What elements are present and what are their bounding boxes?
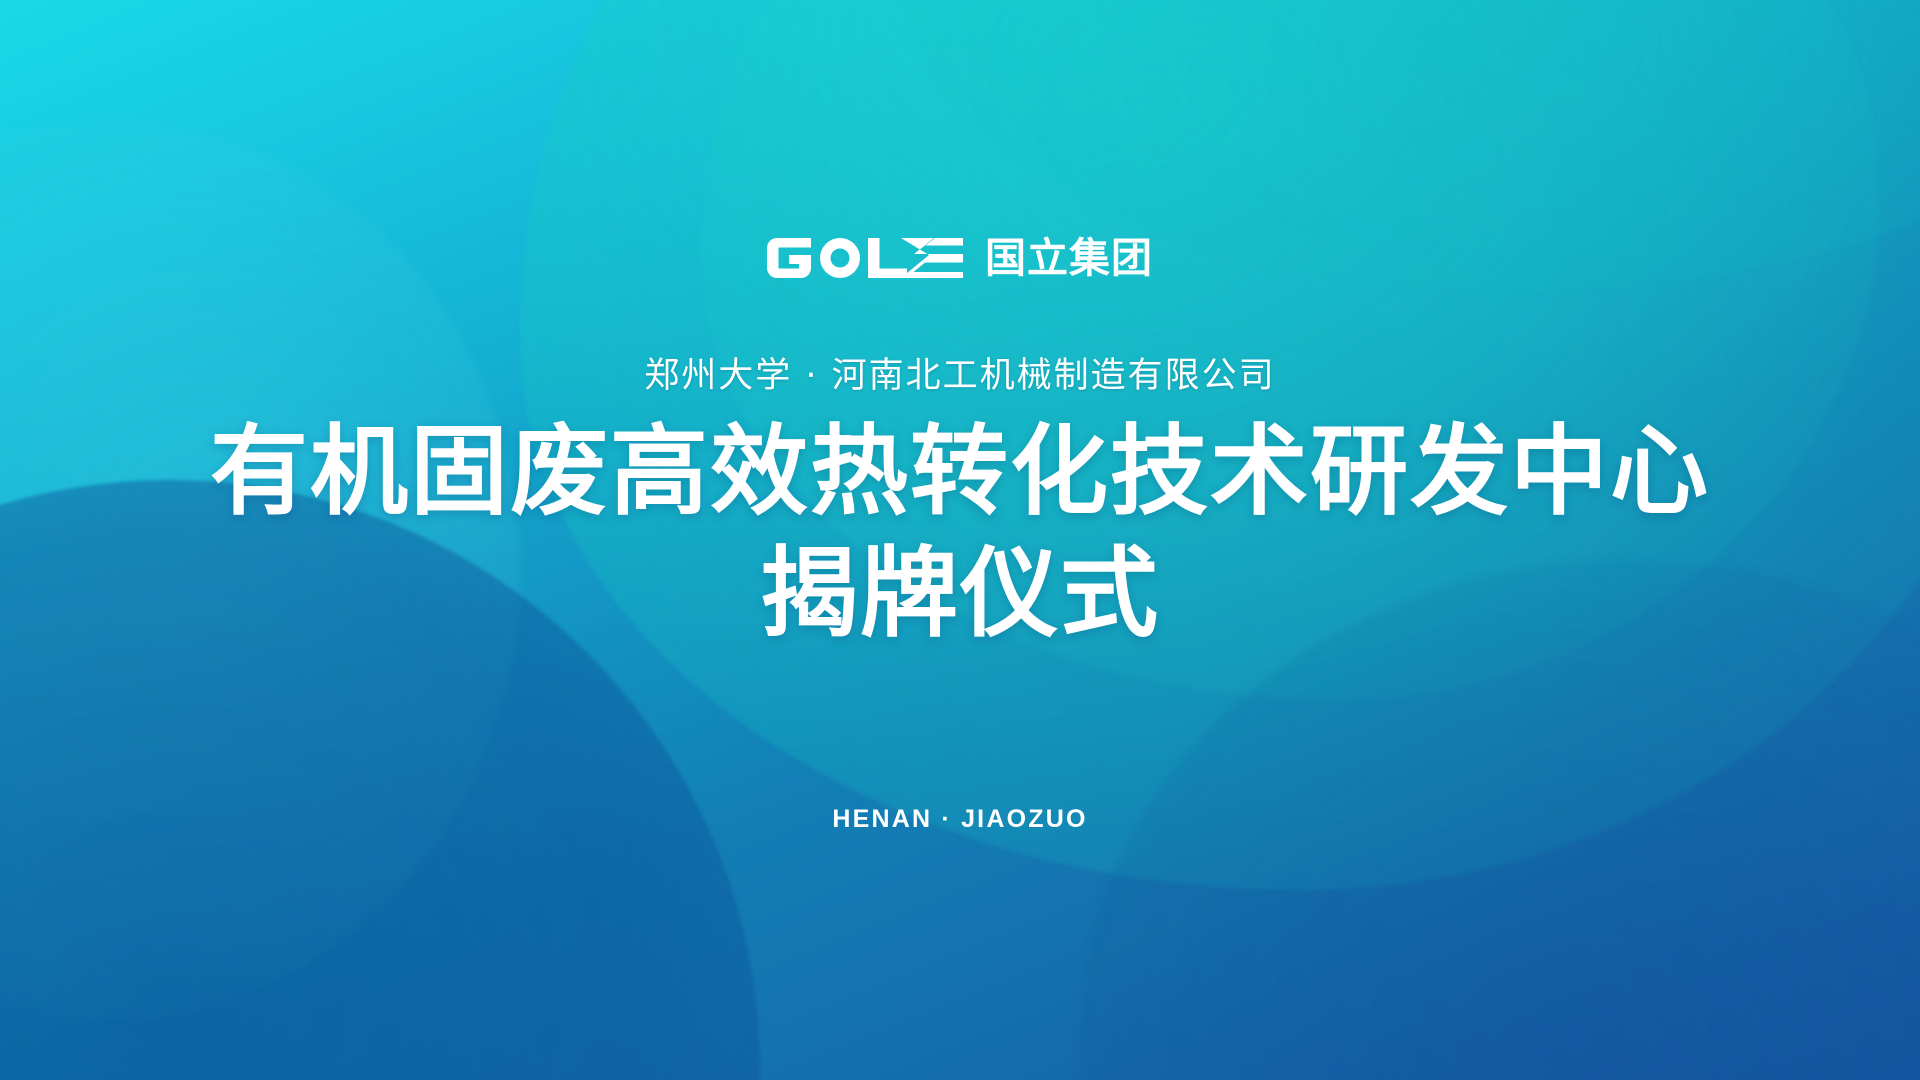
partners-subtitle: 郑州大学 · 河南北工机械制造有限公司 <box>644 347 1275 398</box>
slide-content: 国立集团 郑州大学 · 河南北工机械制造有限公司 有机固废高效热转化技术研发中心… <box>0 0 1920 1080</box>
title-slide: 国立集团 郑州大学 · 河南北工机械制造有限公司 有机固废高效热转化技术研发中心… <box>0 0 1920 1080</box>
page-title: 有机固废高效热转化技术研发中心 揭牌仪式 <box>210 412 1710 655</box>
gole-wordmark-icon <box>767 234 963 282</box>
location-label: HENAN · JIAOZUO <box>832 805 1087 834</box>
headline-line-2: 揭牌仪式 <box>210 534 1710 656</box>
brand-chinese-name: 国立集团 <box>985 238 1153 279</box>
brand-lockup: 国立集团 <box>767 233 1153 283</box>
headline-line-1: 有机固废高效热转化技术研发中心 <box>210 412 1710 534</box>
